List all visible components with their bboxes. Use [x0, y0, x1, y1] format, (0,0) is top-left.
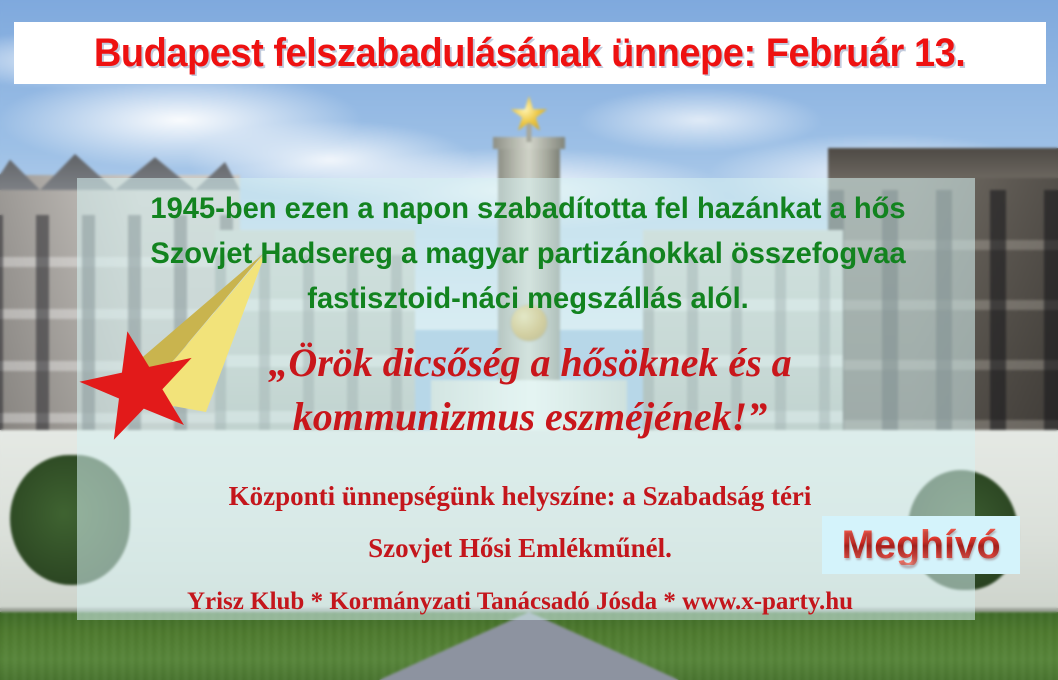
intro-line-2: Szovjet Hadsereg a magyar partizánokkal … — [103, 231, 953, 276]
slogan-quote: „Örök dicsőség a hősöknek és a kommunizm… — [150, 336, 910, 444]
left-tree — [10, 455, 130, 585]
venue-line-1: Központi ünnepségünk helyszíne: a Szabad… — [120, 470, 920, 522]
poster-canvas: Budapest felszabadulásának ünnepe: Febru… — [0, 0, 1058, 680]
right-building-roof — [828, 148, 1058, 178]
quote-line-2: kommunizmus eszméjének!” — [150, 390, 910, 444]
organizers-line: Yrisz Klub * Kormányzati Tanácsadó Jósda… — [120, 576, 920, 628]
title-banner: Budapest felszabadulásának ünnepe: Febru… — [14, 22, 1046, 84]
intro-line-3: fastisztoid-náci megszállás alól. — [103, 276, 953, 321]
intro-paragraph: 1945-ben ezen a napon szabadította fel h… — [103, 186, 953, 321]
quote-line-1: „Örök dicsőség a hősöknek és a — [150, 336, 910, 390]
intro-line-1: 1945-ben ezen a napon szabadította fel h… — [103, 186, 953, 231]
invitation-badge[interactable]: Meghívó — [822, 516, 1020, 574]
invitation-badge-label: Meghívó — [841, 525, 1000, 565]
venue-line-2: Szovjet Hősi Emlékműnél. — [120, 522, 920, 574]
event-details: Központi ünnepségünk helyszíne: a Szabad… — [120, 470, 920, 628]
poster-title: Budapest felszabadulásának ünnepe: Febru… — [94, 33, 965, 73]
